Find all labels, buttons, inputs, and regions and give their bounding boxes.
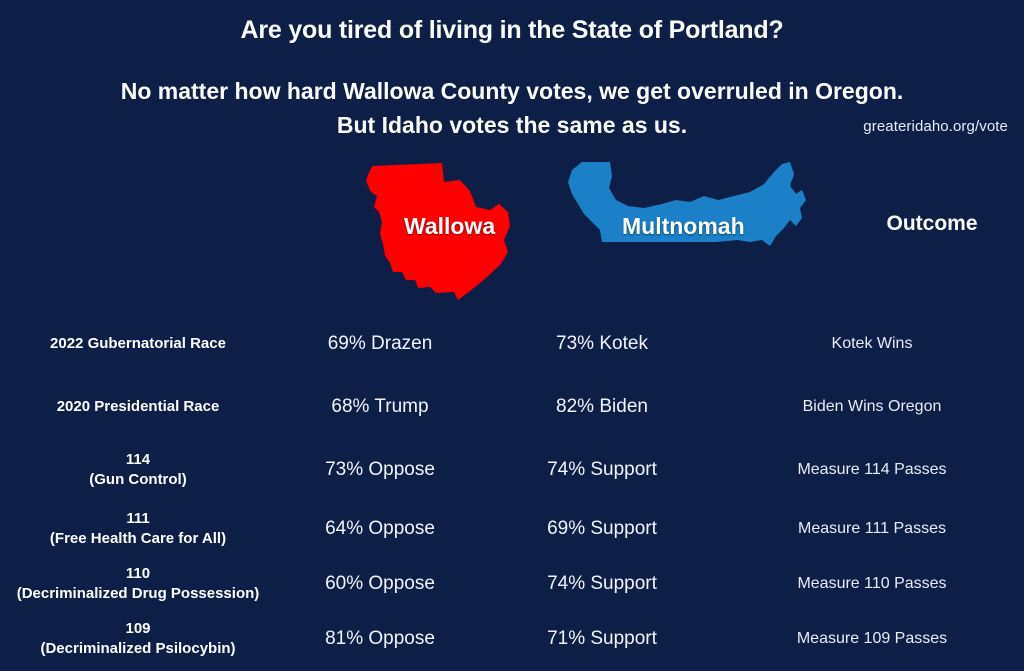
row-label-sub: (Gun Control) (0, 470, 276, 490)
table-row: 114 (Gun Control) 73% Oppose 74% Support… (0, 438, 1024, 501)
row-label: 2022 Gubernatorial Race (0, 334, 276, 354)
row-label-sub: (Decriminalized Drug Possession) (0, 584, 276, 604)
table-row: 2020 Presidential Race 68% Trump 82% Bid… (0, 375, 1024, 438)
row-label: 111 (Free Health Care for All) (0, 509, 276, 549)
multnomah-county-map-icon (566, 160, 811, 255)
row-label-sub: (Free Health Care for All) (0, 529, 276, 549)
row-label: 2020 Presidential Race (0, 397, 276, 417)
outcome-column-header: Outcome (840, 212, 1024, 236)
subheadline-line-1: No matter how hard Wallowa County votes,… (0, 74, 1024, 108)
multnomah-value: 73% Kotek (484, 333, 720, 355)
multnomah-value: 71% Support (484, 628, 720, 650)
row-label: 109 (Decriminalized Psilocybin) (0, 619, 276, 659)
comparison-table: 2022 Gubernatorial Race 69% Drazen 73% K… (0, 312, 1024, 666)
outcome-value: Measure 114 Passes (720, 461, 1024, 479)
wallowa-column-header: Wallowa (404, 213, 495, 240)
wallowa-value: 60% Oppose (276, 573, 484, 595)
row-label-sub: (Decriminalized Psilocybin) (0, 639, 276, 659)
outcome-value: Measure 110 Passes (720, 575, 1024, 593)
row-label-main: 2020 Presidential Race (57, 398, 220, 415)
outcome-value: Measure 111 Passes (720, 520, 1024, 538)
row-label-main: 114 (126, 451, 150, 468)
page-headline: Are you tired of living in the State of … (0, 16, 1024, 45)
multnomah-value: 69% Support (484, 518, 720, 540)
table-row: 111 (Free Health Care for All) 64% Oppos… (0, 501, 1024, 556)
row-label-main: 109 (125, 620, 150, 637)
multnomah-column-header: Multnomah (622, 213, 745, 240)
row-label-main: 2022 Gubernatorial Race (50, 335, 226, 352)
wallowa-value: 73% Oppose (276, 459, 484, 481)
multnomah-value: 74% Support (484, 573, 720, 595)
row-label: 114 (Gun Control) (0, 450, 276, 490)
wallowa-value: 68% Trump (276, 396, 484, 418)
outcome-value: Kotek Wins (720, 335, 1024, 353)
row-label-main: 111 (126, 510, 149, 527)
multnomah-value: 74% Support (484, 459, 720, 481)
table-row: 2022 Gubernatorial Race 69% Drazen 73% K… (0, 312, 1024, 375)
wallowa-value: 81% Oppose (276, 628, 484, 650)
wallowa-value: 64% Oppose (276, 518, 484, 540)
table-row: 109 (Decriminalized Psilocybin) 81% Oppo… (0, 611, 1024, 666)
wallowa-value: 69% Drazen (276, 333, 484, 355)
website-url[interactable]: greateridaho.org/vote (863, 118, 1008, 135)
row-label: 110 (Decriminalized Drug Possession) (0, 564, 276, 604)
table-row: 110 (Decriminalized Drug Possession) 60%… (0, 556, 1024, 611)
multnomah-value: 82% Biden (484, 396, 720, 418)
outcome-value: Measure 109 Passes (720, 630, 1024, 648)
row-label-main: 110 (126, 565, 150, 582)
outcome-value: Biden Wins Oregon (720, 398, 1024, 416)
